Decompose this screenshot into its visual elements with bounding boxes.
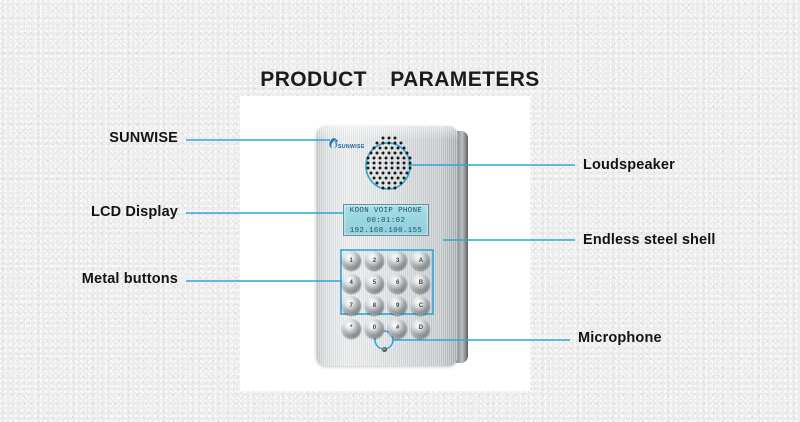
keypad-key[interactable]: 2 <box>365 251 384 270</box>
microphone-hole <box>382 347 387 352</box>
keypad-key-label: 8 <box>365 303 384 309</box>
keypad-key-label: 9 <box>388 303 407 309</box>
callout-label-microphone: Microphone <box>578 330 662 346</box>
callout-label-lcd-display: LCD Display <box>0 204 178 220</box>
sunwise-logo: SUNWISE <box>327 137 373 154</box>
lcd-line-ip-address: 192.168.100.155 <box>344 226 428 236</box>
voip-phone-device: SUNWISE <box>316 126 468 369</box>
keypad-key-label: 3 <box>388 258 407 264</box>
keypad-key-label: 0 <box>365 325 384 331</box>
keypad-key[interactable]: B <box>411 274 430 293</box>
keypad-key-label: A <box>411 258 430 264</box>
keypad-key[interactable]: 1 <box>342 251 361 270</box>
page-title: PRODUCT PARAMETERS <box>0 68 800 92</box>
keypad-key[interactable]: * <box>342 319 361 338</box>
callout-label-sunwise: SUNWISE <box>0 130 178 146</box>
keypad-key[interactable]: 3 <box>388 251 407 270</box>
callout-label-metal-buttons: Metal buttons <box>0 271 178 287</box>
keypad-key-label: D <box>411 325 430 331</box>
keypad-key-label: 6 <box>388 280 407 286</box>
device-front-face: SUNWISE <box>316 126 458 366</box>
callout-label-steel-shell: Endless steel shell <box>583 232 716 248</box>
keypad-key-label: 1 <box>342 258 361 264</box>
lcd-display: KOON VOIP PHONE 00:01:02 192.168.100.155 <box>343 204 429 236</box>
keypad-key[interactable]: 6 <box>388 274 407 293</box>
sunwise-wordmark: SUNWISE <box>338 144 365 150</box>
keypad-key[interactable]: A <box>411 251 430 270</box>
lcd-line-title: KOON VOIP PHONE <box>344 206 428 216</box>
title-word-parameters: PARAMETERS <box>390 68 539 91</box>
keypad-key[interactable]: 7 <box>342 296 361 315</box>
product-parameters-diagram: PRODUCT PARAMETERS SUNWISE <box>0 0 800 422</box>
lcd-line-timer: 00:01:02 <box>344 216 428 226</box>
keypad-key[interactable]: # <box>388 319 407 338</box>
title-word-product: PRODUCT <box>260 68 367 91</box>
keypad-key-label: 5 <box>365 280 384 286</box>
metal-keypad[interactable]: 1 2 3 A 4 5 6 B 7 8 9 C * 0 # D <box>340 250 432 339</box>
keypad-key-label: B <box>411 280 430 286</box>
keypad-key-label: 7 <box>342 303 361 309</box>
keypad-key[interactable]: 9 <box>388 296 407 315</box>
keypad-key-label: * <box>342 325 361 331</box>
keypad-key-label: 4 <box>342 280 361 286</box>
keypad-key-label: C <box>411 303 430 309</box>
keypad-key[interactable]: 8 <box>365 296 384 315</box>
keypad-key[interactable]: 4 <box>342 274 361 293</box>
keypad-key-label: 2 <box>365 258 384 264</box>
keypad-key[interactable]: C <box>411 296 430 315</box>
callout-label-loudspeaker: Loudspeaker <box>583 157 675 173</box>
keypad-key[interactable]: D <box>411 319 430 338</box>
keypad-key-label: # <box>388 325 407 331</box>
keypad-key[interactable]: 0 <box>365 319 384 338</box>
keypad-key[interactable]: 5 <box>365 274 384 293</box>
